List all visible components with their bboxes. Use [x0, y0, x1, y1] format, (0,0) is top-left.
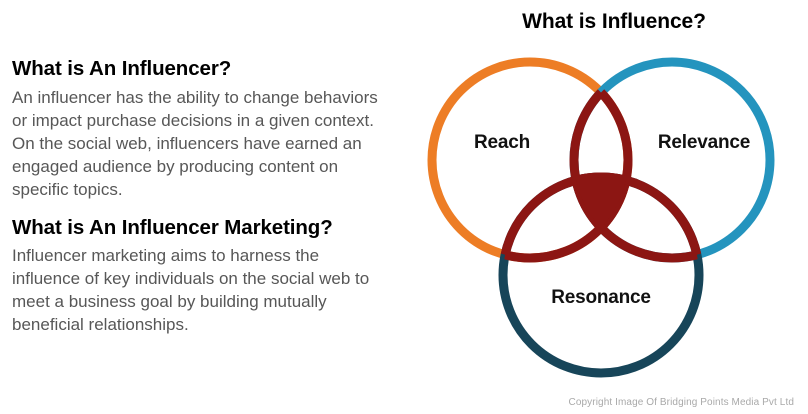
venn-label-reach: Reach: [474, 132, 530, 153]
body-what-is-an-influencer-marketing: Influencer marketing aims to harness the…: [12, 244, 382, 336]
venn-pairwise-intersections: [432, 62, 770, 373]
heading-what-is-an-influencer: What is An Influencer?: [12, 56, 404, 82]
venn-circle-outlines: [432, 62, 770, 373]
heading-what-is-an-influencer-marketing: What is An Influencer Marketing?: [12, 215, 404, 241]
text-column: What is An Influencer? An influencer has…: [12, 56, 404, 346]
venn-circle-reach: [432, 62, 628, 258]
section-influencer-marketing: What is An Influencer Marketing? Influen…: [12, 215, 404, 337]
venn-circle-resonance: [503, 177, 699, 373]
venn-circle-relevance: [574, 62, 770, 258]
venn-triple-intersection: [503, 177, 699, 373]
copyright-notice: Copyright Image Of Bridging Points Media…: [569, 397, 794, 408]
diagram-title: What is Influence?: [420, 10, 808, 34]
section-influencer: What is An Influencer? An influencer has…: [12, 56, 404, 201]
slide-canvas: What is An Influencer? An influencer has…: [0, 0, 808, 414]
venn-label-resonance: Resonance: [551, 287, 651, 308]
body-what-is-an-influencer: An influencer has the ability to change …: [12, 86, 382, 201]
venn-label-relevance: Relevance: [658, 132, 750, 153]
